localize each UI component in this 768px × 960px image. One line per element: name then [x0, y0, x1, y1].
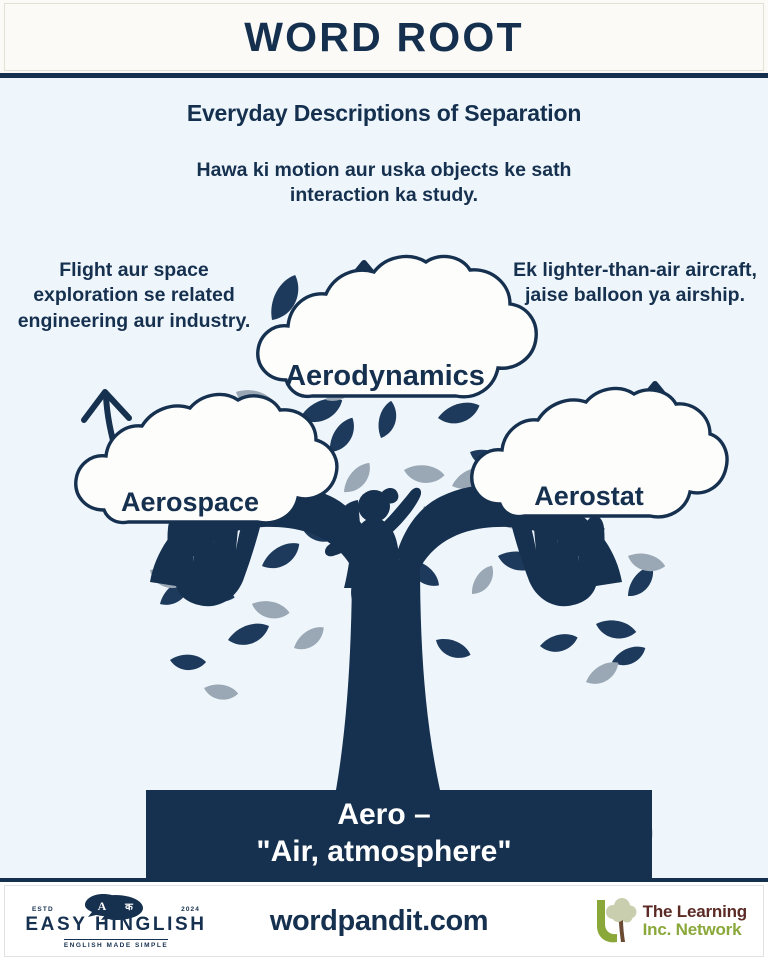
- root-line-1: Aero –: [134, 796, 634, 833]
- infographic-page: WORD ROOT Everyday Descriptions of Separ…: [0, 0, 768, 960]
- callout-aerospace: Flight aur space exploration se related …: [6, 258, 262, 334]
- callout-aerostat: Ek lighter-than-air aircraft, jaise ball…: [504, 258, 766, 309]
- root-line-2: "Air, atmosphere": [134, 833, 634, 870]
- cloud-label-aerodynamics: Aerodynamics: [258, 360, 512, 393]
- cloud-label-aerospace: Aerospace: [82, 487, 298, 518]
- callout-aerodynamics: Hawa ki motion aur uska objects ke sath …: [188, 158, 580, 209]
- root-definition: Aero – "Air, atmosphere": [134, 796, 634, 870]
- cloud-label-aerostat: Aerostat: [486, 481, 692, 512]
